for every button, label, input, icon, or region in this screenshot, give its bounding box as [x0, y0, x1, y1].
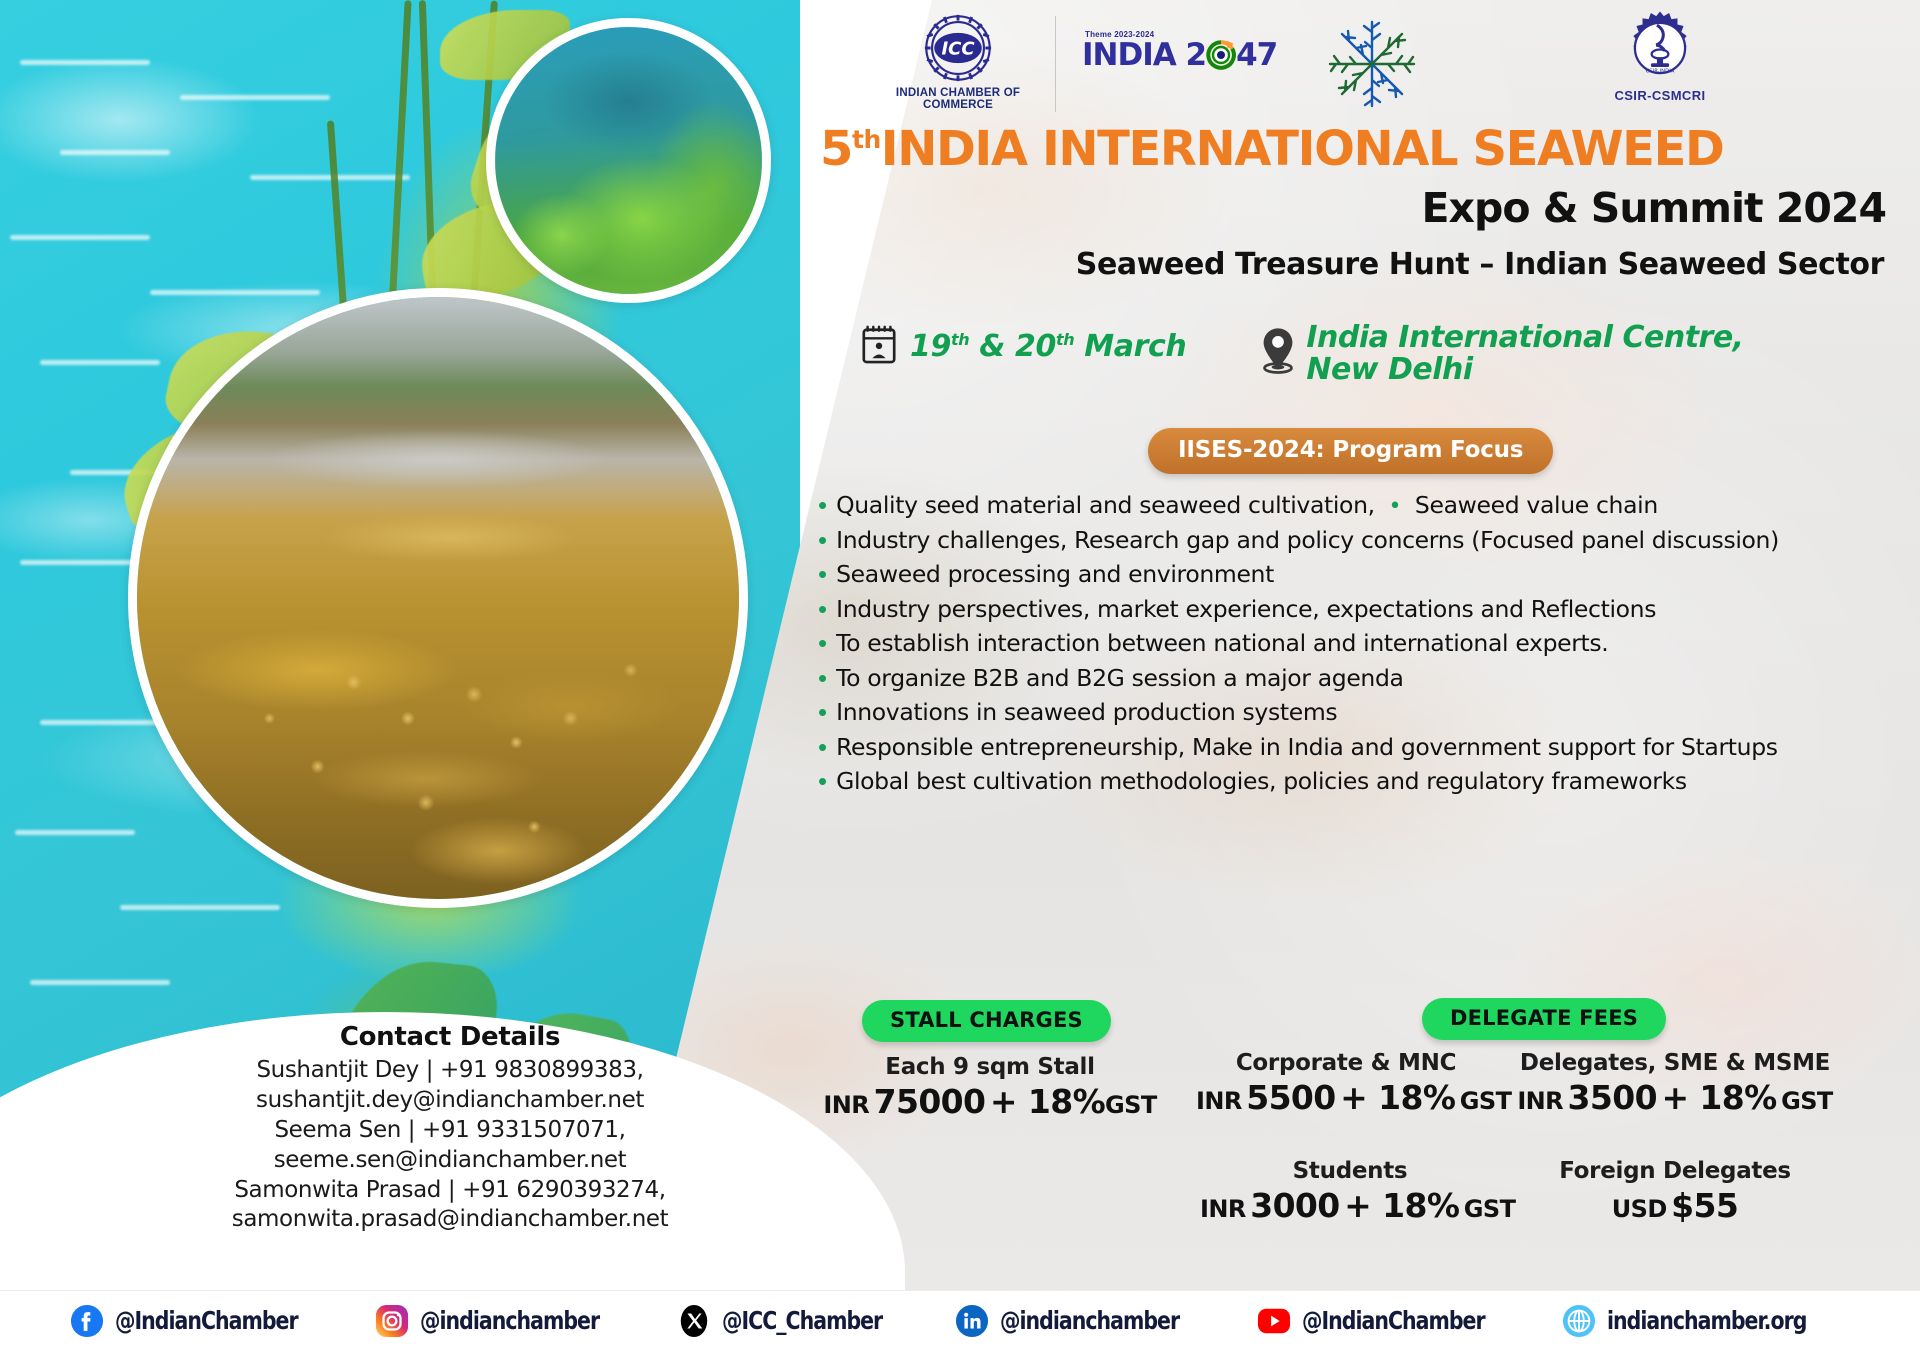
social-handle: @indianchamber [420, 1306, 599, 1335]
list-item: • To establish interaction between natio… [818, 630, 1908, 657]
seaweed-frond-icon [1317, 14, 1427, 114]
delegate-tax: + 18% [1340, 1078, 1455, 1117]
logo-divider [1055, 16, 1056, 112]
delegate-currency: INR [1517, 1087, 1563, 1115]
event-venue-block: India International Centre, New Delhi [1260, 322, 1743, 387]
delegate-currency: INR [1196, 1087, 1242, 1115]
delegate-fees-pill: DELEGATE FEES [1422, 998, 1666, 1040]
bullet-icon: • [818, 665, 827, 691]
list-item: • Industry perspectives, market experien… [818, 596, 1908, 623]
bullet-icon: • [818, 527, 827, 553]
calendar-icon [860, 322, 898, 371]
delegate-tax-unit: GST [1781, 1087, 1833, 1115]
stall-price-value: INR 75000 + 18%GST [790, 1082, 1190, 1121]
event-meta-row: 19th & 20th March India International Ce… [860, 322, 1744, 387]
x-twitter-icon [677, 1304, 711, 1338]
social-link-website[interactable]: indianchamber.org [1562, 1304, 1850, 1338]
header-logo-row: ICC INDIAN CHAMBER OF COMMERCE Theme 202… [820, 8, 1910, 120]
delegate-label: Delegates, SME & MSME [1500, 1050, 1850, 1076]
stall-price-block: Each 9 sqm Stall INR 75000 + 18%GST [790, 1054, 1190, 1121]
icc-logo-caption: INDIAN CHAMBER OF COMMERCE [873, 87, 1043, 111]
list-item: • Industry challenges, Research gap and … [818, 527, 1908, 554]
social-footer-bar: @IndianChamber @indianchamber [0, 1290, 1920, 1350]
csir-emblem-icon: CSIR-INDIA [1622, 10, 1698, 86]
social-handle: @ICC_Chamber [722, 1306, 882, 1335]
delegate-price-block-corporate: Corporate & MNC INR 5500 + 18% GST [1196, 1050, 1496, 1117]
india-2047-tricolor-icon [1205, 39, 1237, 71]
list-item-label: To establish interaction between nationa… [836, 630, 1608, 657]
bullet-icon: • [818, 734, 827, 760]
venue-line-2: New Delhi [1306, 352, 1472, 387]
title-ordinal: 5 [820, 121, 852, 177]
delegate-tax-unit: GST [1464, 1195, 1516, 1223]
list-item: • Global best cultivation methodologies,… [818, 768, 1908, 795]
contact-line: sushantjit.dey@indianchamber.net [130, 1086, 770, 1116]
delegate-price-block-foreign: Foreign Delegates USD $55 [1510, 1158, 1840, 1225]
india-2047-word-a: INDIA 2 [1082, 40, 1206, 71]
delegate-amount: $55 [1671, 1186, 1738, 1225]
contact-details-block: Contact Details Sushantjit Dey | +91 983… [130, 1022, 770, 1235]
stall-currency: INR [823, 1091, 869, 1119]
event-date-block: 19th & 20th March [860, 322, 1186, 371]
social-handle: indianchamber.org [1607, 1306, 1806, 1335]
list-item-label: Global best cultivation methodologies, p… [836, 768, 1687, 795]
list-item-label: To organize B2B and B2G session a major … [836, 665, 1404, 692]
delegate-currency: USD [1612, 1195, 1667, 1223]
delegate-tax: + 18% [1661, 1078, 1776, 1117]
delegate-label: Corporate & MNC [1196, 1050, 1496, 1076]
social-handle: @indianchamber [1000, 1306, 1179, 1335]
social-link-facebook[interactable]: @IndianChamber [70, 1304, 338, 1338]
india-2047-wordmark: INDIA 2 47 [1082, 39, 1277, 71]
seaweed-emblem-logo [1317, 14, 1427, 114]
page-title: 5thINDIA INTERNATIONAL SEAWEED [820, 125, 1910, 173]
contact-details-heading: Contact Details [130, 1022, 770, 1052]
bullet-icon: • [818, 596, 827, 622]
csir-logo-caption: CSIR-CSMCRI [1570, 88, 1750, 103]
delegate-value: INR 3000 + 18% GST [1200, 1186, 1500, 1225]
bullet-icon: • [1382, 494, 1408, 519]
social-link-x-twitter[interactable]: @ICC_Chamber [677, 1304, 917, 1338]
list-item-label: Industry challenges, Research gap and po… [836, 527, 1779, 554]
date-day-1-suffix: th [951, 330, 969, 349]
program-focus-list: • Quality seed material and seaweed cult… [818, 492, 1908, 803]
linkedin-icon [955, 1304, 989, 1338]
delegate-tax: + 18% [1344, 1186, 1459, 1225]
india-2047-word-b: 47 [1236, 40, 1277, 71]
delegate-value: INR 5500 + 18% GST [1196, 1078, 1496, 1117]
youtube-icon [1257, 1304, 1291, 1338]
list-item-label: Seaweed processing and environment [836, 561, 1274, 588]
program-focus-badge: IISES-2024: Program Focus [1148, 428, 1553, 474]
location-pin-icon [1260, 326, 1296, 379]
delegate-value: INR 3500 + 18% GST [1500, 1078, 1850, 1117]
bullet-icon: • [818, 768, 827, 794]
social-link-youtube[interactable]: @IndianChamber [1257, 1304, 1525, 1338]
bullet-icon: • [818, 492, 827, 518]
contact-line: Seema Sen | +91 9331507071, [130, 1116, 770, 1146]
delegate-price-block-sme: Delegates, SME & MSME INR 3500 + 18% GST [1500, 1050, 1850, 1117]
title-line-2: Expo & Summit 2024 [820, 188, 1910, 229]
date-month: March [1074, 329, 1186, 364]
delegate-currency: INR [1200, 1195, 1246, 1223]
delegate-price-block-students: Students INR 3000 + 18% GST [1200, 1158, 1500, 1225]
svg-text:CSIR-INDIA: CSIR-INDIA [1646, 68, 1675, 74]
list-item-label: Industry perspectives, market experience… [836, 596, 1656, 623]
list-item-label-secondary: Seaweed value chain [1415, 491, 1658, 519]
delegate-amount: 3000 [1250, 1186, 1339, 1225]
bullet-icon: • [818, 561, 827, 587]
india-2047-logo: Theme 2023-2024 INDIA 2 47 [1082, 30, 1277, 71]
delegate-amount: 5500 [1246, 1078, 1335, 1117]
shore-seaweed-circle-photo [128, 288, 748, 908]
contact-line: samonwita.prasad@indianchamber.net [130, 1205, 770, 1235]
delegate-value: USD $55 [1510, 1186, 1840, 1225]
contact-line: Sushantjit Dey | +91 9830899383, [130, 1056, 770, 1086]
bullet-icon: • [818, 630, 827, 656]
list-item: • Responsible entrepreneurship, Make in … [818, 734, 1908, 761]
event-date-text: 19th & 20th March [910, 329, 1186, 364]
title-line-1: INDIA INTERNATIONAL SEAWEED [881, 121, 1724, 177]
list-item: • To organize B2B and B2G session a majo… [818, 665, 1908, 692]
venue-line-1: India International Centre, [1306, 320, 1743, 355]
list-item-label: Responsible entrepreneurship, Make in In… [836, 734, 1778, 761]
date-day-2-suffix: th [1056, 330, 1074, 349]
social-handle: @IndianChamber [115, 1306, 298, 1335]
facebook-icon [70, 1304, 104, 1338]
delegate-label: Students [1200, 1158, 1500, 1184]
social-link-instagram[interactable]: @indianchamber [375, 1304, 638, 1338]
social-link-linkedin[interactable]: @indianchamber [955, 1304, 1218, 1338]
contact-line: seeme.sen@indianchamber.net [130, 1146, 770, 1176]
contact-line: Samonwita Prasad | +91 6290393274, [130, 1176, 770, 1206]
social-handle: @IndianChamber [1302, 1306, 1485, 1335]
list-item-label: Innovations in seaweed production system… [836, 699, 1337, 726]
bullet-icon: • [818, 699, 827, 725]
stall-amount: 75000 [874, 1082, 986, 1121]
website-icon [1562, 1304, 1596, 1338]
list-item: • Innovations in seaweed production syst… [818, 699, 1908, 726]
csir-csmcri-logo: CSIR-INDIA CSIR-CSMCRI [1570, 10, 1750, 103]
date-day-1: 19 [910, 329, 951, 364]
list-item-text: Quality seed material and seaweed cultiv… [836, 492, 1658, 520]
event-venue-text: India International Centre, New Delhi [1306, 322, 1743, 387]
svg-text:ICC: ICC [941, 38, 975, 59]
delegate-label: Foreign Delegates [1510, 1158, 1840, 1184]
list-item: • Seaweed processing and environment [818, 561, 1908, 588]
poster-canvas: ICC INDIAN CHAMBER OF COMMERCE Theme 202… [0, 0, 1920, 1350]
title-tagline: Seaweed Treasure Hunt – Indian Seaweed S… [820, 247, 1910, 282]
stall-tax-unit: GST [1105, 1091, 1157, 1119]
instagram-icon [375, 1304, 409, 1338]
title-ordinal-suffix: th [852, 125, 881, 154]
stall-charges-pill: STALL CHARGES [862, 1000, 1111, 1042]
icc-logo: ICC INDIAN CHAMBER OF COMMERCE [873, 12, 1043, 111]
stall-price-label: Each 9 sqm Stall [790, 1054, 1190, 1080]
list-item: • Quality seed material and seaweed cult… [818, 492, 1908, 520]
list-item-label: Quality seed material and seaweed cultiv… [836, 491, 1375, 519]
stall-tax: + 18% [990, 1082, 1105, 1121]
icc-emblem-icon: ICC [922, 12, 994, 84]
seaweed-underwater-circle-photo [486, 18, 771, 303]
delegate-amount: 3500 [1568, 1078, 1657, 1117]
date-separator: & 20 [969, 329, 1056, 364]
